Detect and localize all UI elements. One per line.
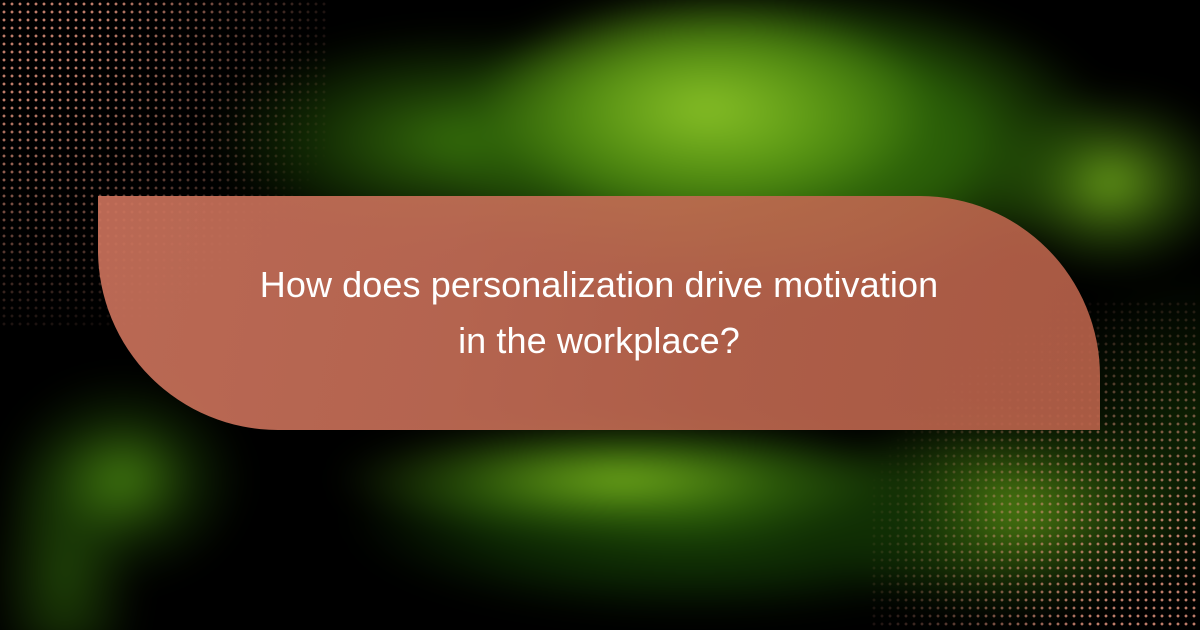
- page-title: How does personalization drive motivatio…: [219, 257, 979, 369]
- title-banner: How does personalization drive motivatio…: [98, 196, 1100, 430]
- share-card-canvas: How does personalization drive motivatio…: [0, 0, 1200, 630]
